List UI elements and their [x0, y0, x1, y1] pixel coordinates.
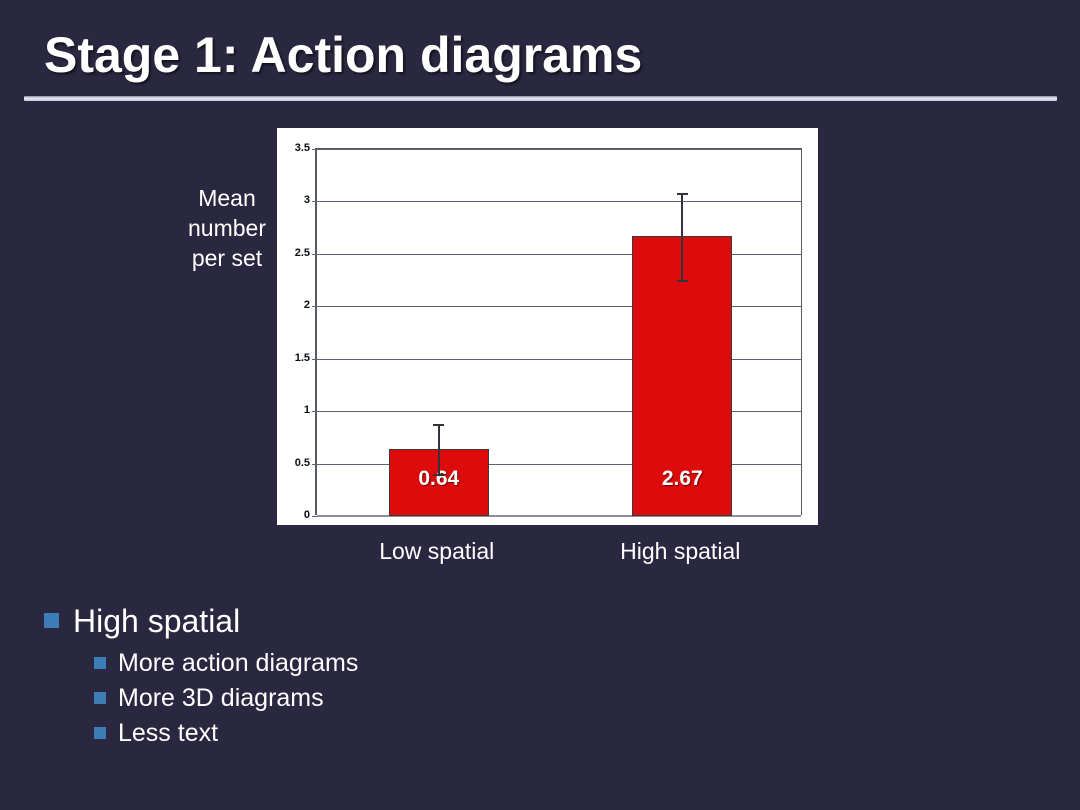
bullet-list: High spatial More action diagrams More 3…	[44, 600, 744, 751]
chart-error-bar-cap	[677, 280, 688, 282]
chart-y-axis-title: Mean number per set	[168, 183, 286, 273]
chart-error-bar-cap	[677, 193, 688, 195]
chart-bar-value-label: 2.67	[633, 467, 731, 491]
chart-y-tick-label: 3.5	[295, 142, 310, 154]
chart-y-tick-mark	[312, 516, 317, 517]
chart-y-tick-mark	[312, 411, 317, 412]
chart-y-tick-label: 2	[304, 299, 310, 311]
bullet-square-icon	[94, 657, 106, 669]
list-item-label: More action diagrams	[118, 646, 358, 680]
chart-y-tick-mark	[312, 254, 317, 255]
list-item-label: More 3D diagrams	[118, 681, 324, 715]
chart-gridline	[317, 149, 801, 150]
chart-y-tick-mark	[312, 201, 317, 202]
chart-gridline	[317, 201, 801, 202]
chart-y-tick-label: 1	[304, 404, 310, 416]
y-axis-title-line-3: per set	[168, 243, 286, 273]
chart-y-tick-label: 2.5	[295, 247, 310, 259]
chart-y-tick-label: 0.5	[295, 457, 310, 469]
chart-y-tick-mark	[312, 149, 317, 150]
title-divider	[24, 96, 1057, 101]
y-axis-title-line-2: number	[168, 213, 286, 243]
y-axis-title-line-1: Mean	[168, 183, 286, 213]
list-item-label: Less text	[118, 716, 218, 750]
chart-category-label-high-spatial: High spatial	[570, 538, 790, 565]
chart-plot-area: 0.642.67	[315, 148, 802, 515]
chart-y-tick-label: 1.5	[295, 352, 310, 364]
chart-error-bar-cap	[433, 474, 444, 476]
chart-category-label-low-spatial: Low spatial	[327, 538, 547, 565]
list-item: More 3D diagrams	[94, 681, 744, 715]
page-title: Stage 1: Action diagrams	[44, 26, 642, 84]
bar-chart: 0.642.67 3.532.521.510.50	[277, 128, 818, 525]
chart-y-tick-mark	[312, 359, 317, 360]
bullet-square-icon	[94, 692, 106, 704]
chart-error-bar	[438, 424, 440, 474]
chart-y-tick-mark	[312, 306, 317, 307]
list-item-label: High spatial	[73, 600, 240, 642]
chart-error-bar-cap	[433, 424, 444, 426]
list-item: High spatial	[44, 600, 744, 642]
chart-y-tick-label: 3	[304, 194, 310, 206]
bullet-square-icon	[44, 613, 59, 628]
list-item: Less text	[94, 716, 744, 750]
chart-y-tick-mark	[312, 464, 317, 465]
bullet-square-icon	[94, 727, 106, 739]
list-item: More action diagrams	[94, 646, 744, 680]
chart-y-tick-label: 0	[304, 509, 310, 521]
chart-error-bar	[681, 193, 683, 280]
